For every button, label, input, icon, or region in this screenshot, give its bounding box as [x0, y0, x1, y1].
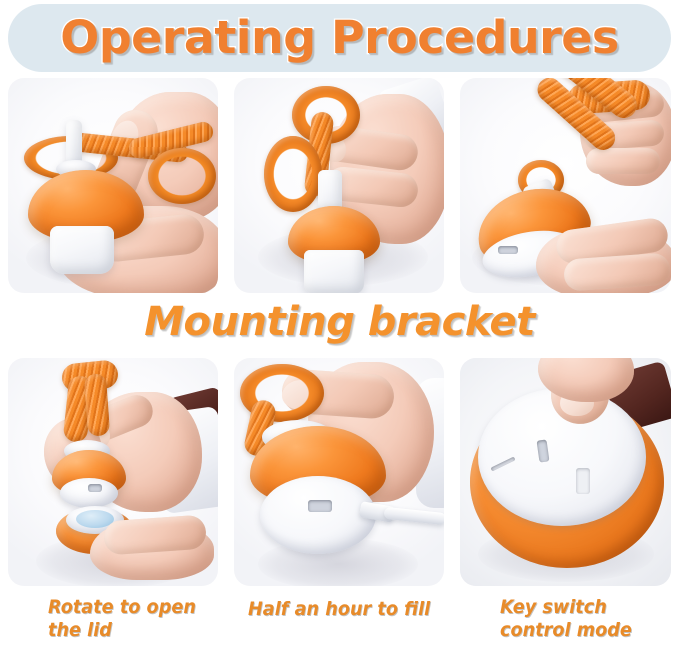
gallery-photo-4	[8, 358, 218, 586]
panel-4-rope-strand-b	[84, 373, 110, 436]
caption-rotate-to-open-the-lid: Rotate to open the lid	[48, 596, 253, 642]
gallery-photo-5	[234, 358, 444, 586]
page-title: Operating Procedures	[1, 4, 677, 72]
panel-4-device-base	[60, 478, 118, 508]
panel-1-device-base	[50, 226, 114, 274]
gallery-photo-6	[460, 358, 671, 586]
panel-5-scene	[234, 358, 444, 586]
mounting-bracket-headline: Mounting bracket	[0, 294, 679, 350]
caption-key-switch-control-mode: Key switch control mode	[500, 596, 677, 642]
caption-half-an-hour-to-fill: Half an hour to fill	[248, 598, 462, 621]
panel-2-rope-loop	[264, 136, 322, 212]
panel-1-scene	[8, 78, 218, 293]
panel-5-usb-port	[308, 500, 332, 512]
title-banner: Operating Procedures	[8, 4, 671, 72]
panel-1-rope-knot	[148, 148, 216, 204]
panel-6-scene	[460, 358, 671, 586]
panel-3-finger-c	[586, 148, 660, 174]
panel-3-scene	[460, 78, 671, 293]
panel-6-vent-slot-b	[576, 468, 590, 494]
panel-2-scene	[234, 78, 444, 293]
gallery-photo-3	[460, 78, 671, 293]
gallery-photo-1	[8, 78, 218, 293]
panel-4-scene	[8, 358, 218, 586]
gallery-photo-2	[234, 78, 444, 293]
panel-3-usb-port	[498, 246, 518, 254]
panel-4-device-indicator	[88, 484, 102, 492]
panel-2-device-base	[304, 250, 364, 293]
panel-4-finger-b	[103, 514, 207, 555]
